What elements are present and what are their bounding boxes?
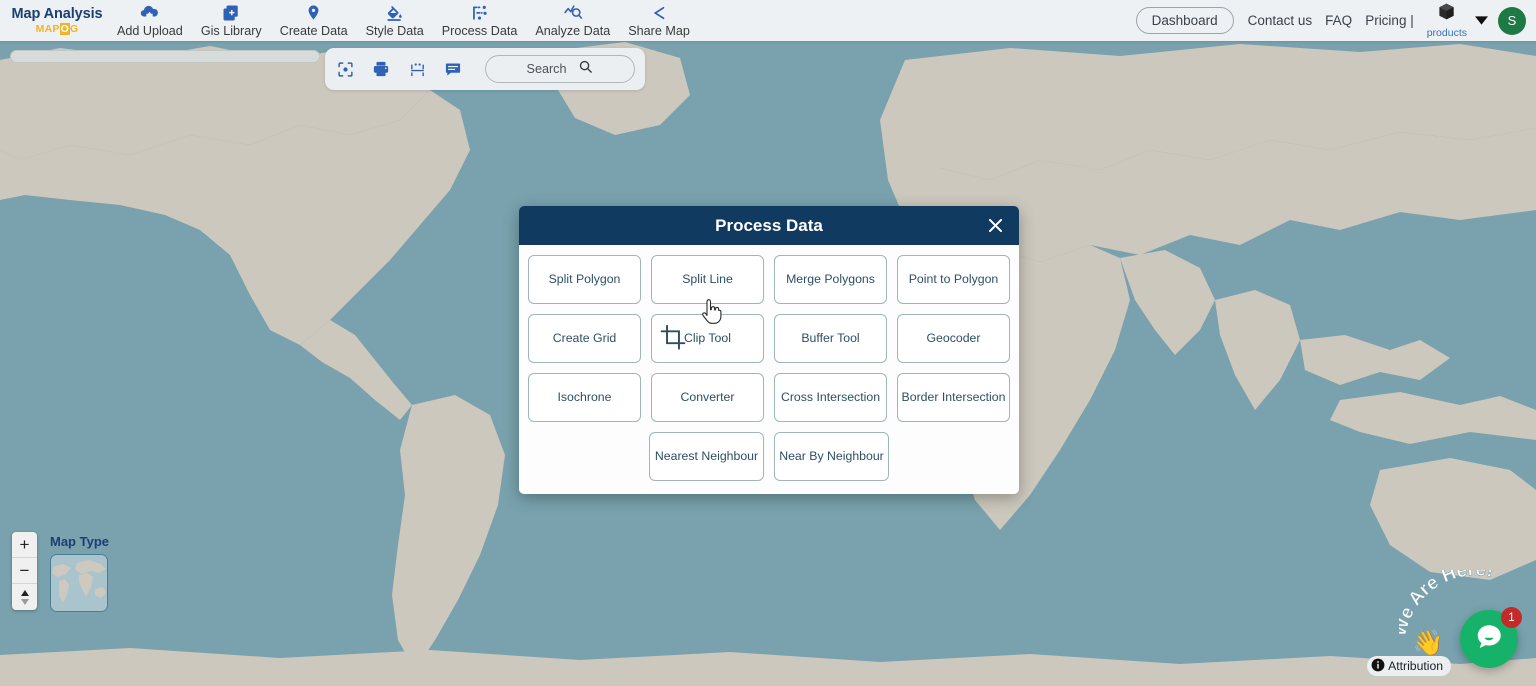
tool-button-border-intersection[interactable]: Border Intersection	[897, 373, 1010, 422]
tool-button-label: Cross Intersection	[781, 390, 880, 405]
header-right-group: Dashboard Contact us FAQ Pricing | produ…	[1136, 2, 1536, 39]
nav-item-add-upload[interactable]: Add Upload	[108, 3, 192, 38]
pricing-link[interactable]: Pricing |	[1365, 13, 1414, 28]
nav-label: Share Map	[628, 24, 690, 38]
nav-item-gis-library[interactable]: Gis Library	[192, 3, 271, 38]
zoom-controls: + −	[12, 532, 37, 610]
tool-button-near-by-neighbour[interactable]: Near By Neighbour	[774, 432, 889, 481]
nav-label: Analyze Data	[535, 24, 610, 38]
attribution-label: Attribution	[1388, 659, 1443, 673]
zoom-out-button[interactable]: −	[12, 558, 37, 584]
avatar[interactable]: S	[1498, 7, 1526, 35]
printer-icon[interactable]	[371, 60, 391, 78]
crop-icon	[660, 324, 686, 354]
tool-button-split-line[interactable]: Split Line	[651, 255, 764, 304]
brand-subtitle: MAPOG	[36, 24, 79, 35]
analyze-chart-icon	[563, 3, 583, 22]
tool-button-label: Point to Polygon	[909, 272, 999, 287]
tool-button-label: Merge Polygons	[786, 272, 875, 287]
attribution-button[interactable]: Attribution	[1367, 656, 1451, 676]
nav-item-share-map[interactable]: Share Map	[619, 3, 699, 38]
tool-button-label: Nearest Neighbour	[655, 449, 758, 464]
nav-label: Style Data	[366, 24, 424, 38]
brand-sub-o: O	[60, 23, 70, 35]
tool-row: Create Grid Clip Tool Buffer Tool Geocod…	[528, 314, 1010, 363]
tool-row: Isochrone Converter Cross Intersection B…	[528, 373, 1010, 422]
tool-button-label: Clip Tool	[684, 331, 731, 346]
tool-button-label: Geocoder	[926, 331, 980, 346]
nav-item-analyze-data[interactable]: Analyze Data	[526, 3, 619, 38]
tool-button-geocoder[interactable]: Geocoder	[897, 314, 1010, 363]
compass-icon[interactable]	[12, 584, 37, 610]
tool-button-label: Buffer Tool	[801, 331, 859, 346]
tool-button-label: Converter	[681, 390, 735, 405]
nav-label: Add Upload	[117, 24, 183, 38]
chevron-down-icon[interactable]	[1475, 12, 1488, 30]
nav-label: Process Data	[442, 24, 518, 38]
map-type-label: Map Type	[50, 534, 109, 549]
tool-button-label: Split Line	[682, 272, 733, 287]
tool-button-point-to-polygon[interactable]: Point to Polygon	[897, 255, 1010, 304]
tool-button-label: Split Polygon	[549, 272, 621, 287]
map-type-thumbnail[interactable]	[50, 554, 108, 612]
focus-target-icon[interactable]	[335, 61, 355, 78]
search-input[interactable]: Search	[485, 55, 635, 83]
cube-icon	[1437, 2, 1456, 26]
nav-item-create-data[interactable]: Create Data	[271, 3, 357, 38]
chat-bubble-icon	[1474, 622, 1504, 657]
cloud-upload-icon	[140, 3, 159, 22]
nav-label: Create Data	[280, 24, 348, 38]
brand-title: Map Analysis	[12, 7, 103, 22]
nav-item-process-data[interactable]: Process Data	[433, 3, 527, 38]
products-menu[interactable]: products	[1427, 2, 1467, 39]
chat-unread-badge: 1	[1501, 607, 1522, 628]
share-icon	[650, 3, 668, 22]
close-icon[interactable]	[984, 215, 1006, 237]
tool-button-clip-tool[interactable]: Clip Tool	[651, 314, 764, 363]
layers-add-icon	[222, 3, 240, 22]
map-type-control: Map Type	[50, 534, 109, 612]
brand-sub-g: G	[70, 23, 78, 35]
brand-sub-map: MAP	[36, 23, 60, 35]
app-header: Map Analysis MAPOG Add Upload Gis Librar…	[0, 0, 1536, 41]
paint-bucket-icon	[385, 3, 404, 22]
measure-distance-icon[interactable]	[407, 61, 427, 78]
map-toolbar: Search	[325, 48, 645, 90]
primary-nav: Add Upload Gis Library Create Data	[108, 0, 699, 41]
tool-button-nearest-neighbour[interactable]: Nearest Neighbour	[649, 432, 764, 481]
tool-button-create-grid[interactable]: Create Grid	[528, 314, 641, 363]
tool-button-label: Near By Neighbour	[779, 449, 884, 464]
tool-button-merge-polygons[interactable]: Merge Polygons	[774, 255, 887, 304]
process-data-dialog: Process Data Split Polygon Split Line Me…	[519, 206, 1019, 494]
tool-button-isochrone[interactable]: Isochrone	[528, 373, 641, 422]
dialog-body: Split Polygon Split Line Merge Polygons …	[519, 245, 1019, 494]
tool-button-buffer-tool[interactable]: Buffer Tool	[774, 314, 887, 363]
nav-label: Gis Library	[201, 24, 262, 38]
contact-us-link[interactable]: Contact us	[1248, 13, 1313, 28]
info-icon	[1371, 658, 1385, 675]
comment-icon[interactable]	[443, 61, 463, 78]
dialog-header: Process Data	[519, 206, 1019, 245]
dialog-title: Process Data	[715, 216, 823, 236]
products-label: products	[1427, 27, 1467, 39]
tool-row: Split Polygon Split Line Merge Polygons …	[528, 255, 1010, 304]
tool-button-label: Create Grid	[553, 331, 617, 346]
tool-row: Nearest Neighbour Near By Neighbour	[528, 432, 1010, 481]
tool-button-label: Border Intersection	[902, 390, 1006, 405]
tool-button-split-polygon[interactable]: Split Polygon	[528, 255, 641, 304]
tool-button-converter[interactable]: Converter	[651, 373, 764, 422]
brand-logo[interactable]: Map Analysis MAPOG	[6, 7, 108, 35]
nav-item-style-data[interactable]: Style Data	[357, 3, 433, 38]
zoom-in-button[interactable]: +	[12, 532, 37, 558]
search-placeholder: Search	[527, 62, 567, 76]
search-icon[interactable]	[578, 59, 593, 79]
dashboard-button[interactable]: Dashboard	[1136, 7, 1234, 34]
process-nodes-icon	[470, 3, 489, 22]
map-pin-icon	[305, 3, 322, 22]
tool-button-cross-intersection[interactable]: Cross Intersection	[774, 373, 887, 422]
tool-button-label: Isochrone	[557, 390, 611, 405]
faq-link[interactable]: FAQ	[1325, 13, 1352, 28]
top-slim-panel-bar[interactable]	[10, 50, 320, 63]
